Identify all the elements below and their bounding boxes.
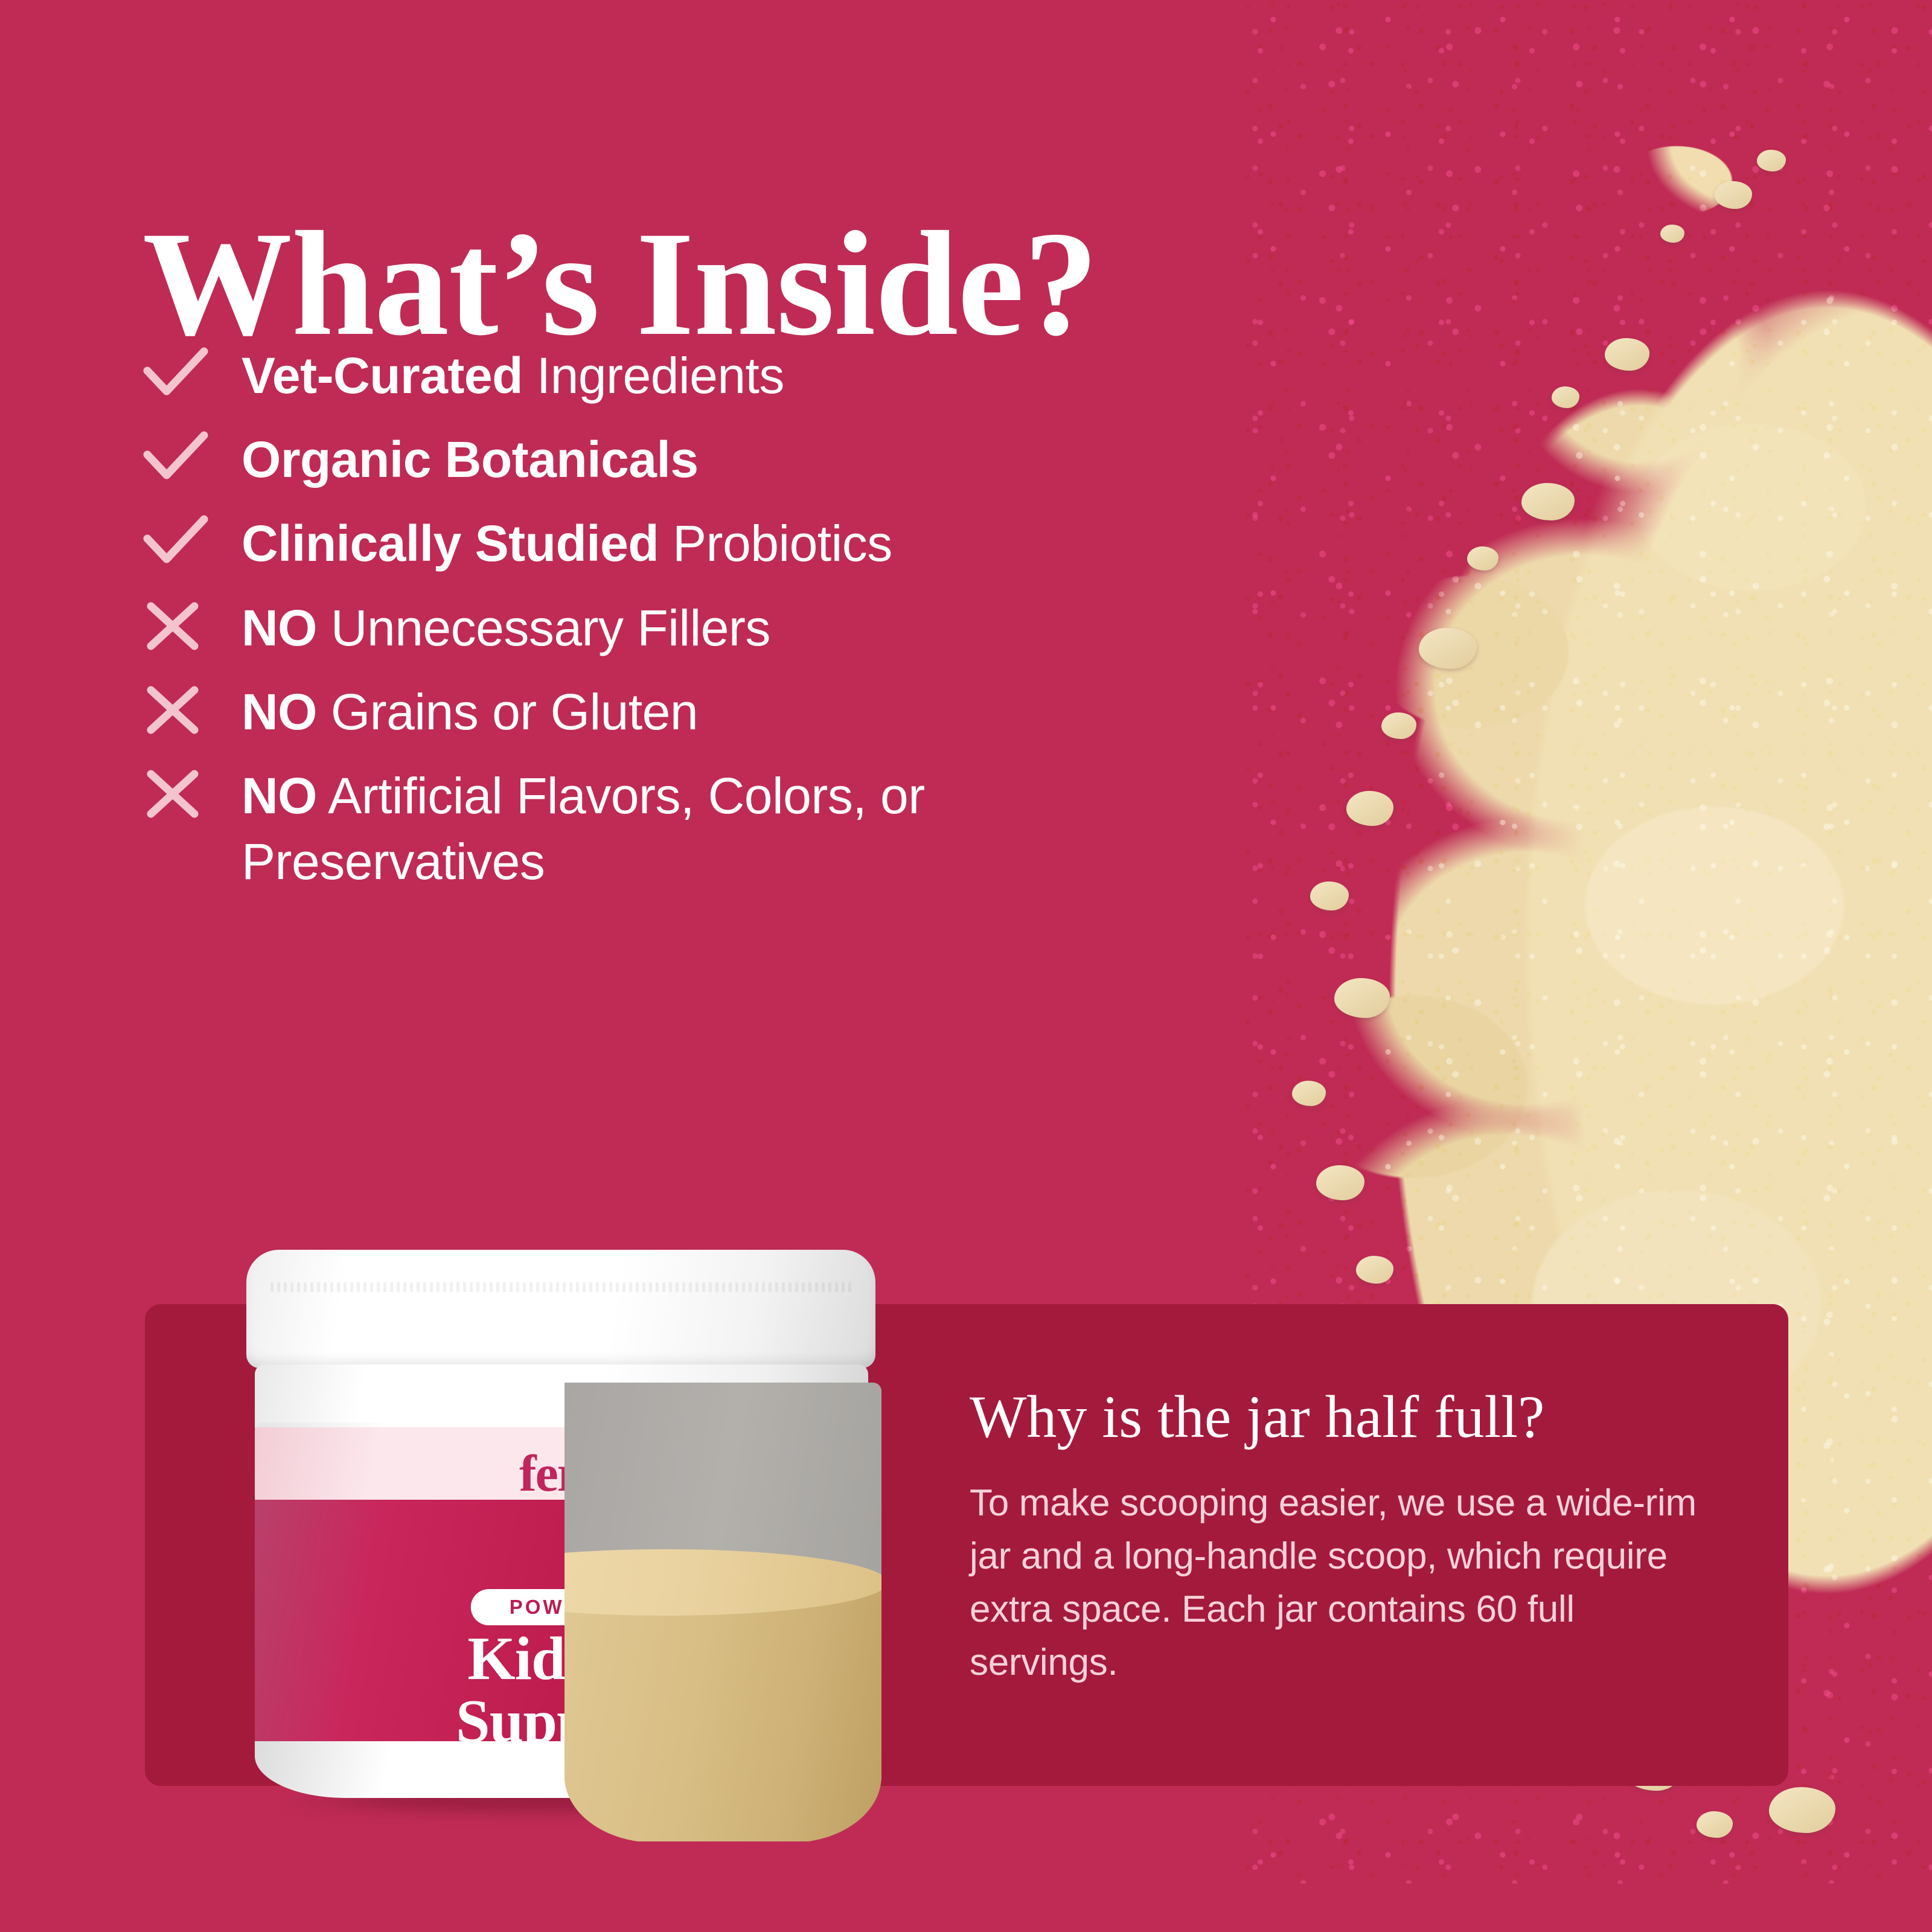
- list-item-rest: Grains or Gluten: [317, 683, 698, 740]
- list-item-rest: Unnecessary Fillers: [317, 600, 770, 656]
- check-icon: [142, 343, 241, 401]
- info-card-title: Why is the jar half full?: [970, 1384, 1724, 1450]
- info-card-content: Why is the jar half full? To make scoopi…: [970, 1384, 1724, 1689]
- benefit-list: Vet-Curated Ingredients Organic Botanica…: [142, 343, 1290, 913]
- jar-lid: [246, 1250, 875, 1368]
- cross-icon: [142, 679, 241, 737]
- cross-icon: [142, 595, 241, 653]
- product-jar: fera POWDER Kidney Support WITH PROBIOTI…: [241, 1244, 881, 1805]
- promo-canvas: What’s Inside? Vet-Curated Ingredients O…: [0, 0, 1932, 1932]
- list-item-strong: Vet-Curated: [241, 347, 523, 404]
- list-item-text: Organic Botanicals: [241, 427, 699, 493]
- list-item-strong: Organic Botanicals: [241, 431, 699, 488]
- jar-powder-fill: [565, 1577, 881, 1841]
- list-item-strong: NO: [241, 767, 317, 824]
- list-item-text: NO Artificial Flavors, Colors, or Preser…: [241, 763, 1038, 895]
- list-item-rest: Artificial Flavors, Colors, or Preservat…: [241, 767, 925, 890]
- check-icon: [142, 511, 241, 569]
- list-item-strong: NO: [241, 600, 317, 656]
- list-item: Organic Botanicals: [142, 427, 1290, 493]
- list-item: NO Artificial Flavors, Colors, or Preser…: [142, 763, 1290, 895]
- list-item-rest: Probiotics: [659, 515, 892, 572]
- list-item: Clinically Studied Probiotics: [142, 511, 1290, 577]
- page-title: What’s Inside?: [142, 209, 1098, 359]
- check-icon: [142, 427, 241, 485]
- list-item: NO Grains or Gluten: [142, 679, 1290, 745]
- list-item-text: Vet-Curated Ingredients: [241, 343, 784, 409]
- list-item-text: NO Grains or Gluten: [241, 679, 698, 745]
- list-item-rest: Ingredients: [523, 347, 784, 404]
- list-item-text: NO Unnecessary Fillers: [241, 595, 770, 661]
- list-item-text: Clinically Studied Probiotics: [241, 511, 892, 577]
- jar-cutaway: [565, 1383, 881, 1841]
- list-item-strong: Clinically Studied: [241, 515, 659, 572]
- info-card-body: To make scooping easier, we use a wide-r…: [970, 1477, 1724, 1689]
- cross-icon: [142, 763, 241, 821]
- list-item: NO Unnecessary Fillers: [142, 595, 1290, 661]
- list-item-strong: NO: [241, 683, 317, 740]
- list-item: Vet-Curated Ingredients: [142, 343, 1290, 409]
